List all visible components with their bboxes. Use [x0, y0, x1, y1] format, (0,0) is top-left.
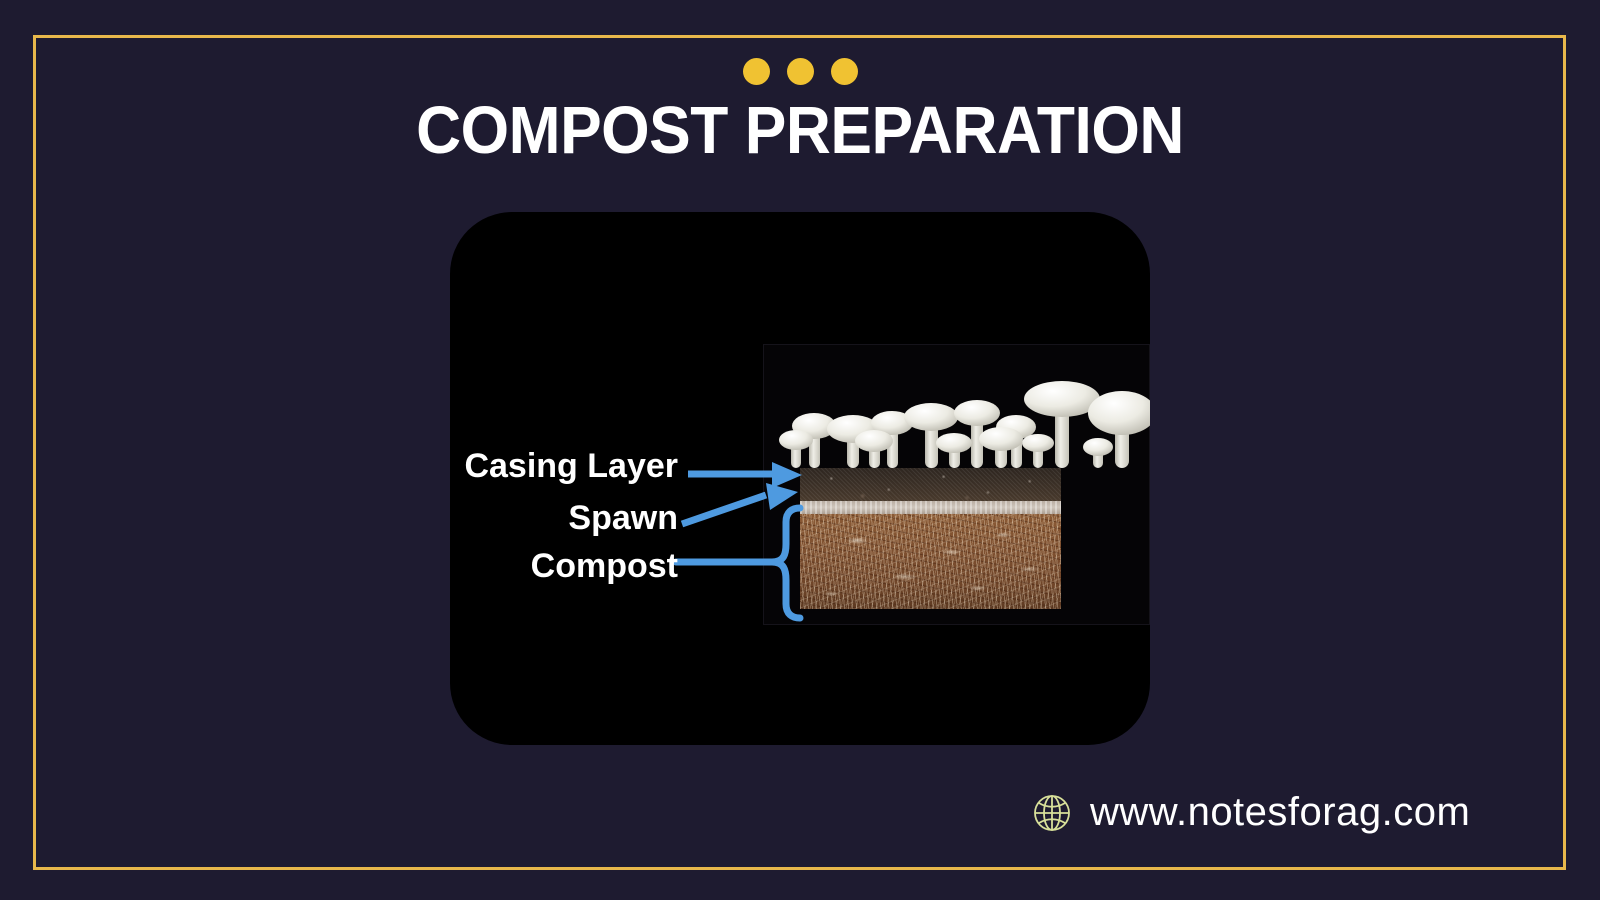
- compost-brace-icon: [676, 508, 800, 618]
- dot-2-icon: [787, 58, 814, 85]
- casing-arrow-icon: [688, 462, 802, 488]
- globe-icon: [1030, 791, 1074, 835]
- label-spawn: Spawn: [568, 501, 678, 535]
- page-title: COMPOST PREPARATION: [56, 96, 1544, 166]
- website-url[interactable]: www.notesforag.com: [1090, 790, 1470, 835]
- label-casing-layer: Casing Layer: [464, 449, 678, 483]
- decorative-dots: [0, 58, 1600, 85]
- dot-3-icon: [831, 58, 858, 85]
- spawn-arrow-icon: [682, 483, 798, 524]
- website-footer[interactable]: www.notesforag.com: [1030, 790, 1470, 835]
- slide-root: COMPOST PREPARATION: [0, 0, 1600, 900]
- dot-1-icon: [743, 58, 770, 85]
- label-compost: Compost: [531, 549, 678, 583]
